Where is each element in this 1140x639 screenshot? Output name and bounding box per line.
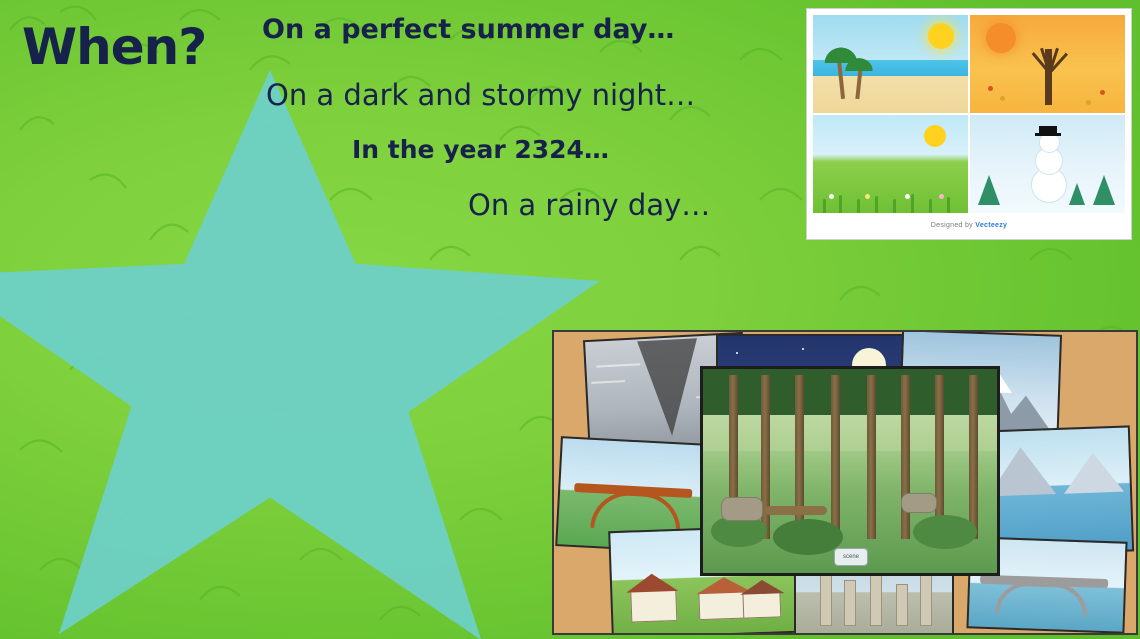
season-spring-panel <box>813 115 968 213</box>
story-line-2: On a dark and stormy night… <box>266 78 695 112</box>
image-credit: Designed by Vecteezy <box>813 213 1125 229</box>
pine-tree-icon <box>1093 175 1115 205</box>
image-credit-prefix: Designed by <box>931 222 973 229</box>
story-line-3: In the year 2324… <box>352 135 609 164</box>
slide-canvas: When? On a perfect summer day… On a dark… <box>0 0 1140 639</box>
four-seasons-image: Designed by Vecteezy <box>806 8 1132 240</box>
season-winter-panel <box>970 115 1125 213</box>
forest-badge: scene <box>834 548 868 566</box>
sun-icon <box>928 23 954 49</box>
leaf-icon <box>988 86 993 91</box>
image-credit-brand: Vecteezy <box>975 222 1007 229</box>
palm-leaves-icon <box>843 56 875 71</box>
leaf-icon <box>1000 96 1005 101</box>
season-summer-panel <box>813 15 968 113</box>
seasons-grid <box>813 15 1125 213</box>
settings-collage-image: scene <box>552 330 1138 635</box>
season-autumn-panel <box>970 15 1125 113</box>
page-title: When? <box>22 18 206 76</box>
forest-canopy <box>703 369 997 415</box>
tornado-icon <box>637 338 702 437</box>
collage-card-forest: scene <box>700 366 1000 576</box>
story-line-4: On a rainy day… <box>468 188 710 222</box>
snowman-hat-icon <box>1039 126 1057 135</box>
sun-icon <box>924 125 946 147</box>
palm-tree-icon <box>855 67 862 99</box>
sun-icon <box>986 23 1016 53</box>
leaf-icon <box>1086 100 1091 105</box>
story-line-1: On a perfect summer day… <box>262 14 674 45</box>
pine-tree-icon <box>1069 183 1085 205</box>
pine-tree-icon <box>978 175 1000 205</box>
leaf-icon <box>1100 90 1105 95</box>
